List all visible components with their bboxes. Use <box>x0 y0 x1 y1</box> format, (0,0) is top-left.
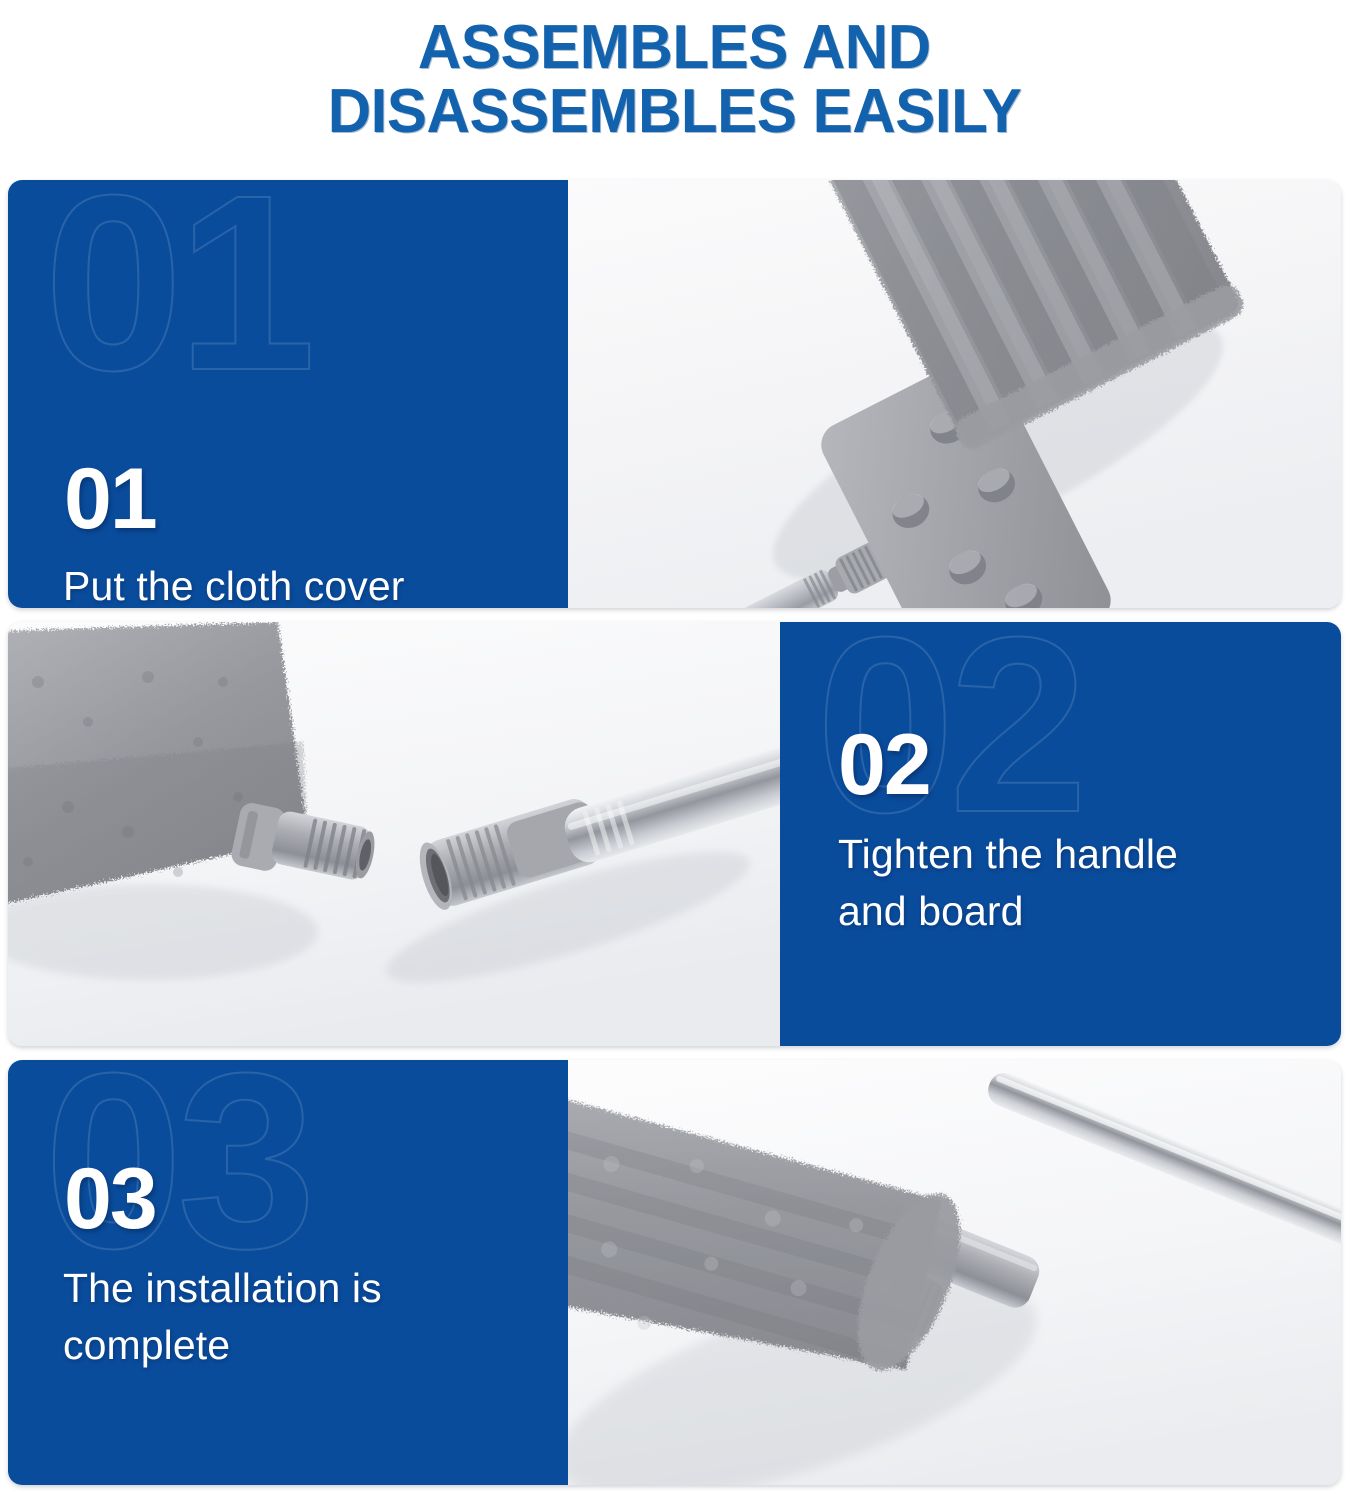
step-02-text-block: 02 02 Tighten the handle and board <box>780 622 1341 1046</box>
step-01-ghost-number: 01 <box>44 180 310 408</box>
step-02-photo <box>8 622 780 1046</box>
page-title-line-1: ASSEMBLES AND <box>418 16 931 80</box>
step-02-number: 02 <box>838 722 930 808</box>
step-02-description: Tighten the handle and board <box>838 826 1178 940</box>
page-title: ASSEMBLES AND DISASSEMBLES EASILY <box>0 0 1349 160</box>
step-03-photo <box>568 1060 1341 1485</box>
step-01-description: Put the cloth cover on the panel <box>63 558 404 608</box>
handle-and-board-connector-illustration <box>8 622 780 1046</box>
step-01-number: 01 <box>64 456 156 542</box>
step-card-02: 02 02 Tighten the handle and board <box>8 622 1341 1046</box>
step-03-text-block: 03 03 The installation is complete <box>8 1060 568 1485</box>
assembled-duster-illustration <box>568 1060 1341 1485</box>
page-title-line-2: DISASSEMBLES EASILY <box>328 80 1022 144</box>
step-01-text-block: 01 01 Put the cloth cover on the panel <box>8 180 568 608</box>
step-03-description: The installation is complete <box>63 1260 382 1374</box>
step-card-03: 03 03 The installation is complete <box>8 1060 1341 1485</box>
mop-panel-with-cloth-illustration <box>568 180 1341 608</box>
step-card-01: 01 01 Put the cloth cover on the panel <box>8 180 1341 608</box>
step-01-photo <box>568 180 1341 608</box>
step-03-number: 03 <box>64 1156 156 1242</box>
